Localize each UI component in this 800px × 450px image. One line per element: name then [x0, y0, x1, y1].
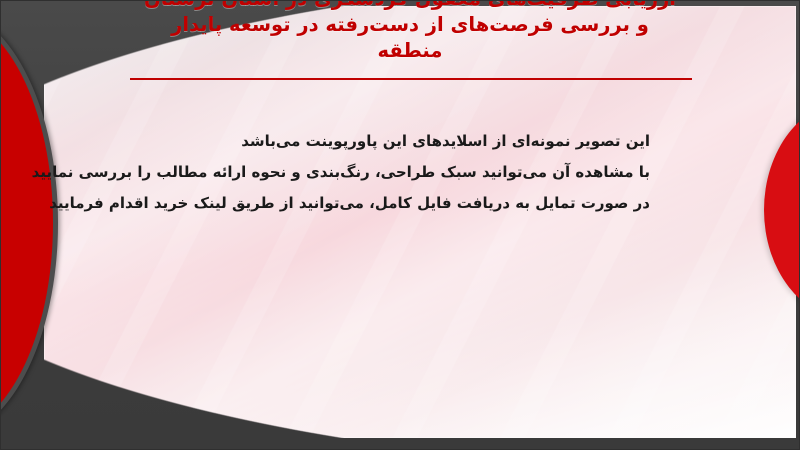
slide-title-line-3: منطقه: [110, 38, 710, 64]
body-line-2: با مشاهده آن می‌توانید سبک طراحی، رنگ‌بن…: [150, 157, 650, 188]
slide-body-text: این تصویر نمونه‌ای از اسلایدهای این پاور…: [150, 126, 650, 219]
body-line-3: در صورت تمایل به دریافت فایل کامل، می‌تو…: [150, 188, 650, 219]
slide-content-panel: [44, 6, 796, 438]
slide-title: ارزیابی ظرفیت‌های مغفول گردشگری در استان…: [110, 0, 710, 64]
presentation-slide: ارزیابی ظرفیت‌های مغفول گردشگری در استان…: [0, 0, 800, 450]
slide-title-line-1: ارزیابی ظرفیت‌های مغفول گردشگری در استان…: [110, 0, 710, 12]
slide-title-line-2: و بررسی فرصت‌های از دست‌رفته در توسعه پا…: [110, 12, 710, 38]
title-divider-rule: [130, 78, 692, 80]
body-line-1: این تصویر نمونه‌ای از اسلایدهای این پاور…: [150, 126, 650, 157]
